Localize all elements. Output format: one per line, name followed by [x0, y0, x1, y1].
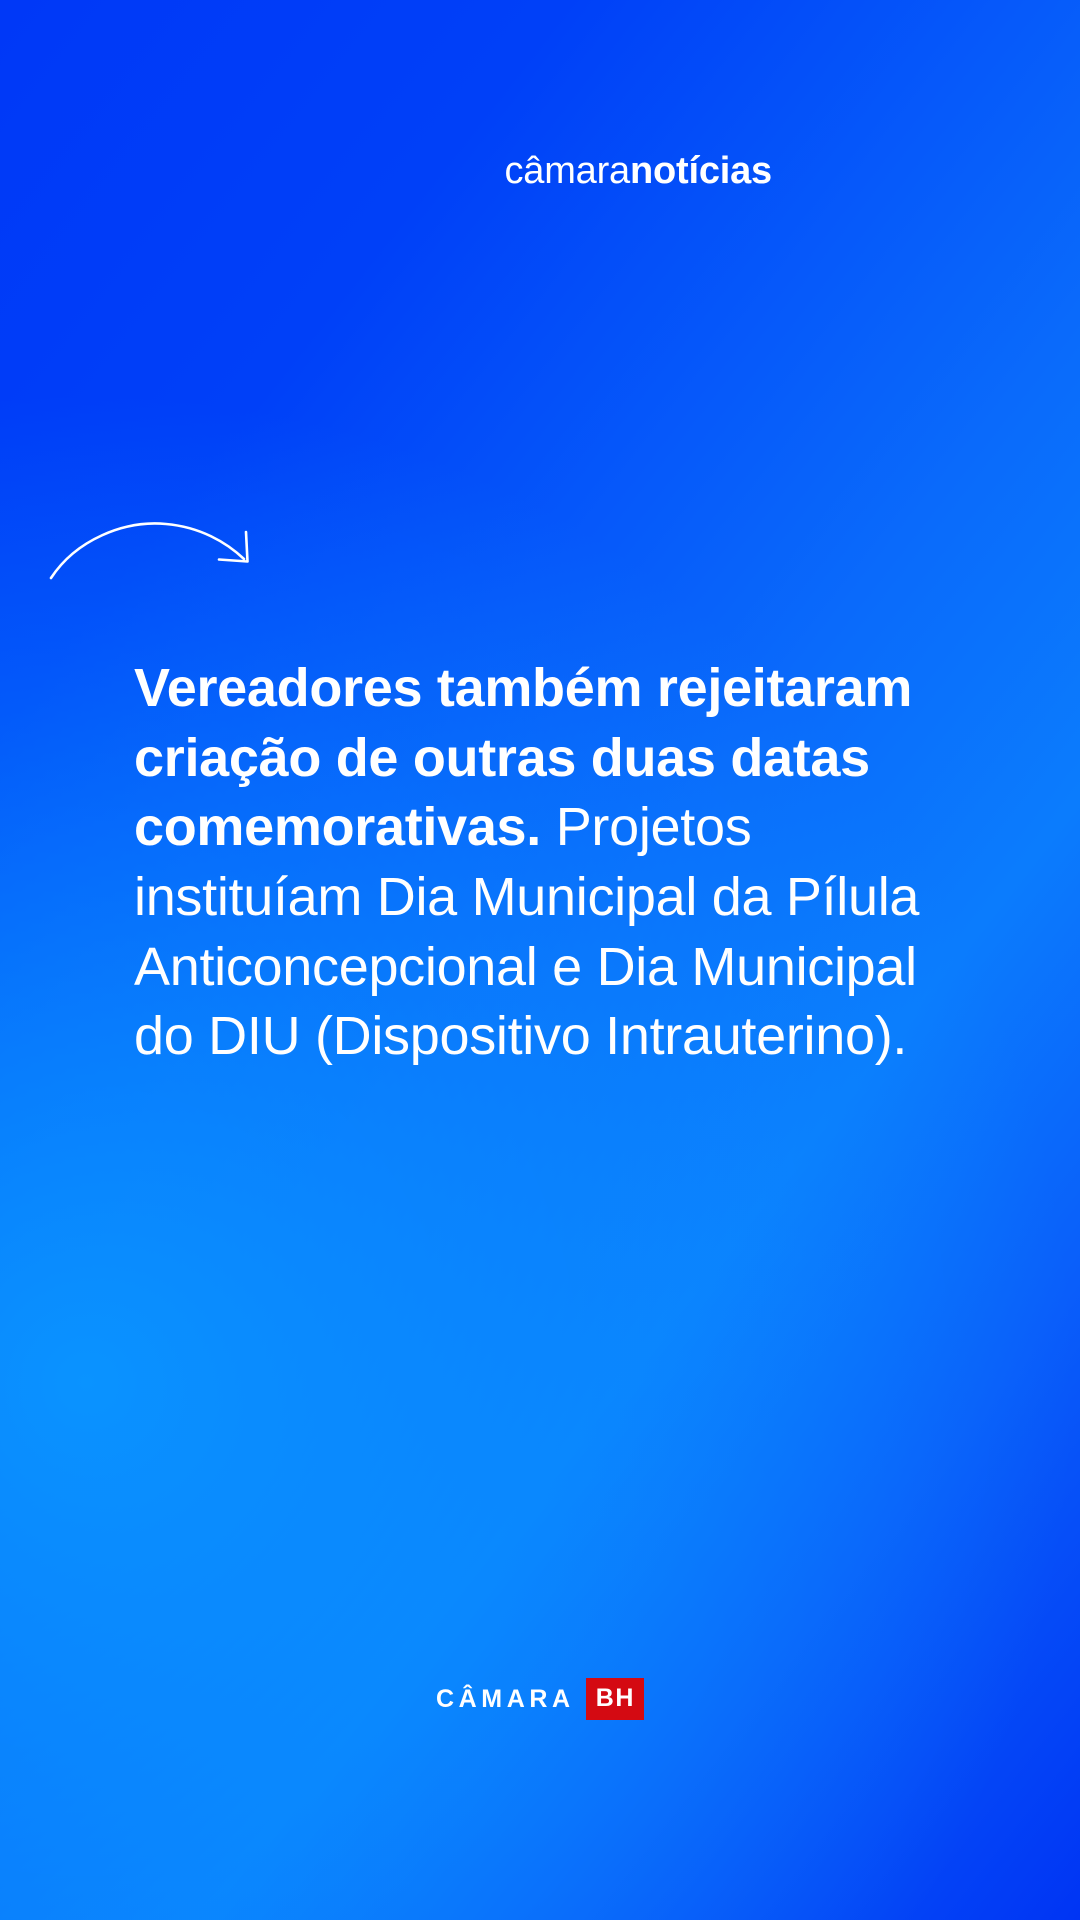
- curved-arrow-icon: [48, 512, 268, 582]
- brand-prefix: câmara: [504, 150, 630, 192]
- headline-lead: Vereadores também rejeitaram criação de …: [134, 658, 912, 857]
- brand-lockup: câmaranotícias: [0, 152, 1080, 190]
- brand-suffix: notícias: [630, 150, 772, 192]
- footer-logo-word: CÂMARA: [436, 1687, 575, 1712]
- footer-logo: CÂMARA BH: [0, 1678, 1080, 1720]
- social-news-card: câmaranotícias Vereadores também rejeita…: [0, 0, 1080, 1920]
- headline-block: Vereadores também rejeitaram criação de …: [134, 654, 944, 1072]
- footer-logo-badge: BH: [586, 1678, 644, 1720]
